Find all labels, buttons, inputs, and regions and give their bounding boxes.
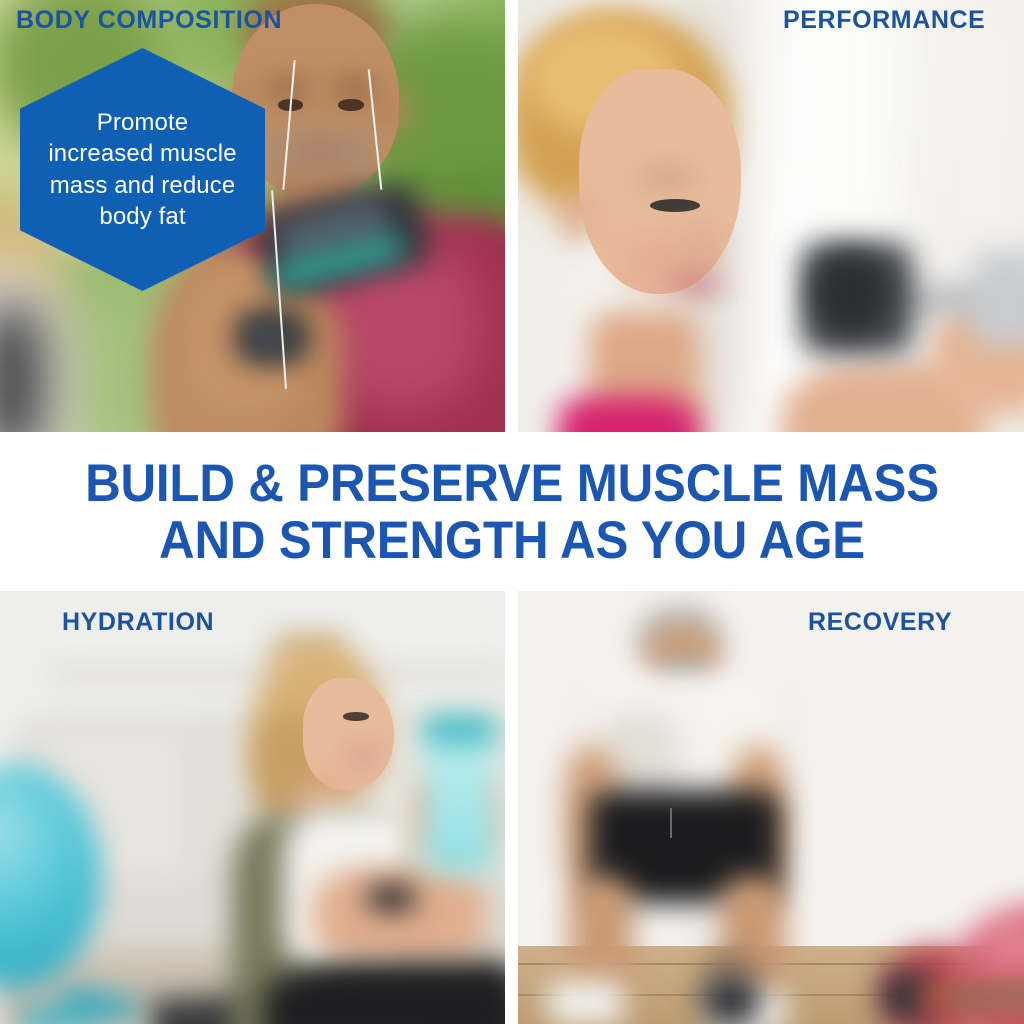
man-ear: [379, 86, 409, 134]
man-leg: [569, 877, 635, 998]
man-mouth: [298, 147, 343, 159]
hexagon-text-body-composition: Promote increased muscle mass and reduce…: [40, 107, 244, 232]
kettlebell-handle: [710, 955, 750, 981]
man-eye: [338, 99, 363, 110]
watch-face: [247, 322, 292, 352]
man-eyebrow: [333, 82, 373, 95]
background-person-arm: [0, 302, 45, 432]
page-headline: BUILD & PRESERVE MUSCLE MASS AND STRENGT…: [36, 455, 988, 569]
woman-drinking-water-photo: [0, 591, 505, 1024]
water-bottle-cap: [424, 717, 495, 743]
category-label-performance: PERFORMANCE: [783, 6, 985, 35]
dumbbell-end-cap: [973, 251, 1024, 346]
category-label-body-composition: BODY COMPOSITION: [16, 6, 282, 35]
spring-collar: [943, 987, 1024, 1007]
woman-lips: [348, 751, 378, 761]
woman-eye: [343, 712, 368, 721]
muscle-health-infographic: Promote increased muscle mass and reduce…: [0, 0, 1024, 1024]
man-eyebrow: [268, 82, 308, 95]
woman-face: [303, 678, 394, 791]
shorts-drawstring: [670, 808, 672, 838]
woman-eye: [650, 199, 701, 212]
woman-nose: [685, 225, 720, 268]
dumbbell-head-core: [811, 251, 892, 337]
woman-lifting-dumbbell-photo: [518, 0, 1024, 432]
water-bottle: [424, 734, 495, 873]
pink-tank-top: [558, 397, 700, 432]
woman-ear: [558, 190, 593, 242]
panel-recovery: Boost recovery by reducing muscle breakd…: [518, 591, 1024, 1024]
woman-eyebrow: [639, 173, 695, 183]
panel-body-composition: Promote increased muscle mass and reduce…: [0, 0, 505, 432]
category-label-hydration: HYDRATION: [62, 608, 214, 637]
fitness-tracker: [369, 885, 414, 911]
category-label-recovery: RECOVERY: [808, 608, 952, 637]
panel-performance: Increase muscle energy, strength, power …: [518, 0, 1024, 432]
woman-lips: [670, 276, 726, 294]
panel-hydration: Improve hydration levels for optimal mus…: [0, 591, 505, 1024]
sneaker: [548, 981, 624, 1024]
man-resting-after-kettlebell-photo: [518, 591, 1024, 1024]
woman-leggings: [263, 963, 505, 1024]
woman-arm: [313, 868, 485, 963]
